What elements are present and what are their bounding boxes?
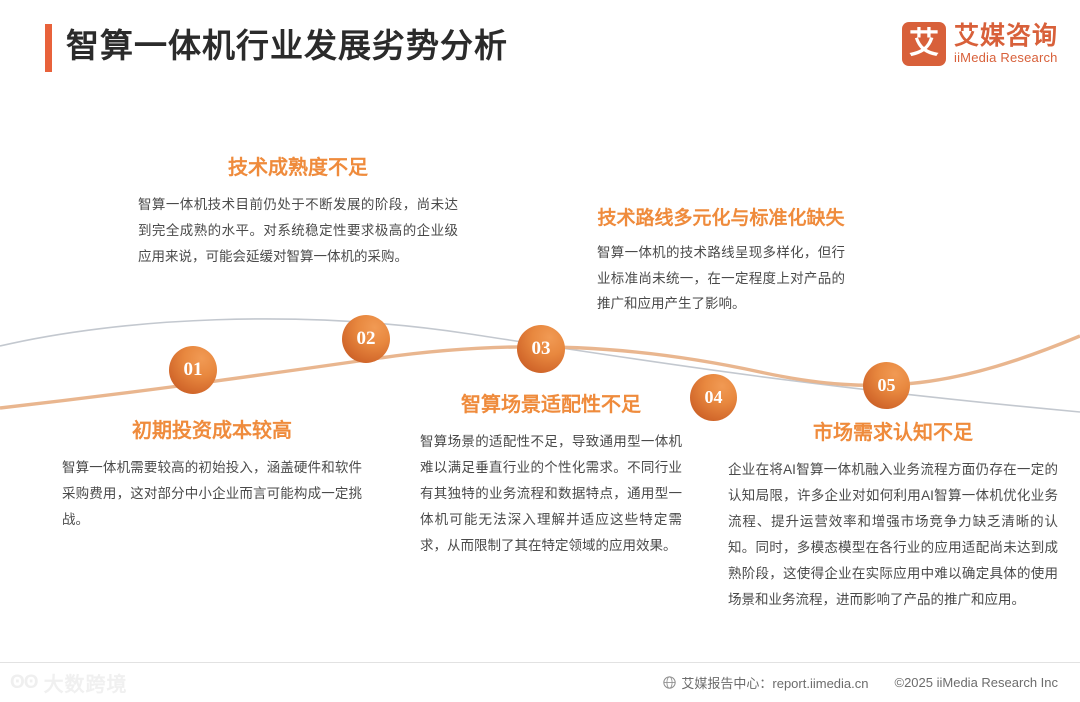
content-block-02: 技术成熟度不足 智算一体机技术目前仍处于不断发展的阶段，尚未达到完全成熟的水平。… <box>138 155 458 270</box>
title-accent-bar <box>45 24 52 72</box>
step-circle-04[interactable]: 04 <box>690 374 737 421</box>
watermark-logo-icon: ʘʘ <box>10 672 38 694</box>
footer-copyright: ©2025 iiMedia Research Inc <box>895 675 1059 690</box>
content-block-04: 智算场景适配性不足 智算场景的适配性不足，导致通用型一体机难以满足垂直行业的个性… <box>420 392 682 559</box>
page-title: 智算一体机行业发展劣势分析 <box>66 22 508 70</box>
footer-report-link[interactable]: 艾媒报告中心：report.iimedia.cn <box>663 673 868 692</box>
globe-icon <box>663 676 676 689</box>
content-block-05: 市场需求认知不足 企业在将AI智算一体机融入业务流程方面仍存在一定的认知局限，许… <box>728 420 1058 612</box>
block-02-body: 智算一体机技术目前仍处于不断发展的阶段，尚未达到完全成熟的水平。对系统稳定性要求… <box>138 192 458 270</box>
block-05-body: 企业在将AI智算一体机融入业务流程方面仍存在一定的认知局限，许多企业对如何利用A… <box>728 457 1058 612</box>
infographic-page: 智算一体机行业发展劣势分析 艾 艾媒咨询 iiMedia Research 01… <box>0 0 1080 702</box>
logo-text: 艾媒咨询 iiMedia Research <box>954 23 1058 65</box>
block-01-body: 智算一体机需要较高的初始投入，涵盖硬件和软件采购费用，这对部分中小企业而言可能构… <box>62 455 362 533</box>
page-footer: 艾媒报告中心：report.iimedia.cn ©2025 iiMedia R… <box>0 663 1080 702</box>
block-04-title: 智算场景适配性不足 <box>420 392 682 419</box>
watermark: ʘʘ 大数跨境 <box>10 668 128 697</box>
logo-name-cn: 艾媒咨询 <box>954 23 1058 50</box>
block-03-body: 智算一体机的技术路线呈现多样化，但行业标准尚未统一，在一定程度上对产品的推广和应… <box>597 240 845 318</box>
block-02-title: 技术成熟度不足 <box>138 155 458 182</box>
content-block-01: 初期投资成本较高 智算一体机需要较高的初始投入，涵盖硬件和软件采购费用，这对部分… <box>62 418 362 533</box>
block-01-title: 初期投资成本较高 <box>62 418 362 445</box>
logo-badge-icon: 艾 <box>902 22 946 66</box>
footer-report-label: 艾媒报告中心：report.iimedia.cn <box>681 673 868 692</box>
block-03-title: 技术路线多元化与标准化缺失 <box>597 206 845 232</box>
step-circle-02[interactable]: 02 <box>342 315 390 363</box>
watermark-text: 大数跨境 <box>44 668 128 697</box>
step-circle-01[interactable]: 01 <box>169 346 217 394</box>
brand-logo: 艾 艾媒咨询 iiMedia Research <box>902 22 1058 66</box>
block-05-title: 市场需求认知不足 <box>728 420 1058 447</box>
step-circle-05[interactable]: 05 <box>863 362 910 409</box>
step-circle-03[interactable]: 03 <box>517 325 565 373</box>
block-04-body: 智算场景的适配性不足，导致通用型一体机难以满足垂直行业的个性化需求。不同行业有其… <box>420 429 682 559</box>
page-header: 智算一体机行业发展劣势分析 艾 艾媒咨询 iiMedia Research <box>0 0 1080 100</box>
content-block-03: 技术路线多元化与标准化缺失 智算一体机的技术路线呈现多样化，但行业标准尚未统一，… <box>597 206 845 317</box>
logo-name-en: iiMedia Research <box>954 50 1058 65</box>
